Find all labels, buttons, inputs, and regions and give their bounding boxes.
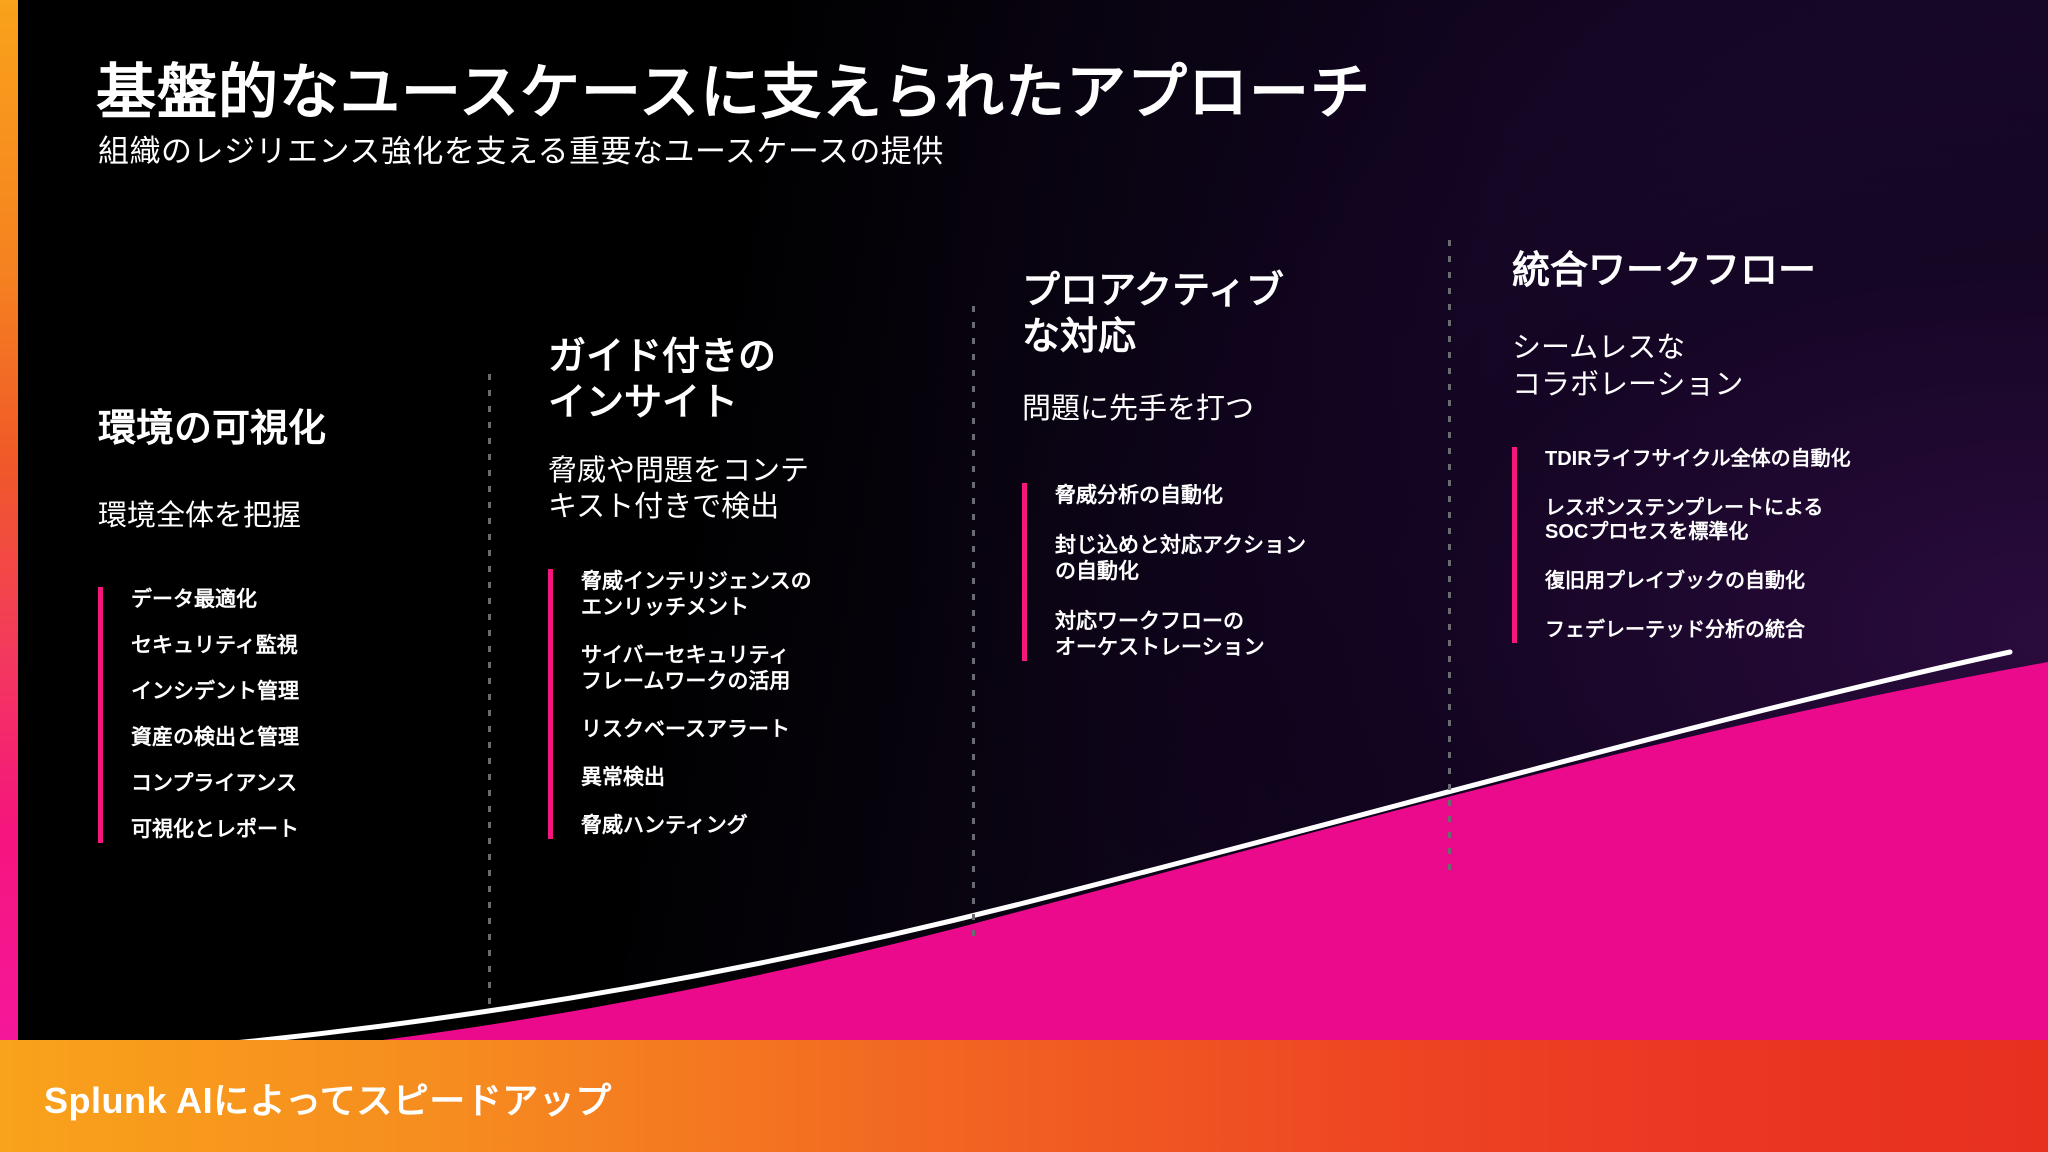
page-title: 基盤的なユースケースに支えられたアプローチ bbox=[96, 44, 1371, 131]
list-item: 脅威ハンティング bbox=[581, 813, 928, 839]
column-divider-3 bbox=[1448, 240, 1451, 870]
list-item: リスクベースアラート bbox=[581, 717, 928, 743]
list-item: 資産の検出と管理 bbox=[131, 725, 458, 751]
list-item: 復旧用プレイブックの自動化 bbox=[1545, 569, 1972, 594]
list-item: 封じ込めと対応アクション の自動化 bbox=[1055, 533, 1402, 585]
list-item: 脅威分析の自動化 bbox=[1055, 483, 1402, 509]
list-item: TDIRライフサイクル全体の自動化 bbox=[1545, 447, 1972, 472]
column-heading: プロアクティブ な対応 bbox=[1022, 268, 1402, 361]
footer-label: Splunk AIによってスピードアップ bbox=[44, 1072, 612, 1124]
column-visibility: 環境の可視化 環境全体を把握 データ最適化 セキュリティ監視 インシデント管理 … bbox=[98, 406, 458, 843]
list-item: 可視化とレポート bbox=[131, 817, 458, 843]
column-subheading: 環境全体を把握 bbox=[98, 498, 458, 534]
list-item: 対応ワークフローの オーケストレーション bbox=[1055, 609, 1402, 661]
column-divider-2 bbox=[972, 306, 975, 936]
column-divider-1 bbox=[488, 374, 491, 1004]
list-item: フェデレーテッド分析の統合 bbox=[1545, 618, 1972, 643]
page-subtitle: 組織のレジリエンス強化を支える重要なユースケースの提供 bbox=[98, 126, 944, 171]
column-subheading: シームレスな コラボレーション bbox=[1512, 330, 1972, 403]
column-guided-insights: ガイド付きの インサイト 脅威や問題をコンテ キスト付きで検出 脅威インテリジェ… bbox=[548, 334, 928, 839]
column-heading: ガイド付きの インサイト bbox=[548, 334, 928, 427]
list-item: インシデント管理 bbox=[131, 679, 458, 705]
column-integrated-workflow: 統合ワークフロー シームレスな コラボレーション TDIRライフサイクル全体の自… bbox=[1512, 248, 1972, 643]
column-heading: 統合ワークフロー bbox=[1512, 248, 1972, 294]
bullet-list: データ最適化 セキュリティ監視 インシデント管理 資産の検出と管理 コンプライア… bbox=[98, 587, 458, 843]
list-item: 異常検出 bbox=[581, 765, 928, 791]
list-item: 脅威インテリジェンスの エンリッチメント bbox=[581, 569, 928, 621]
column-heading: 環境の可視化 bbox=[98, 406, 458, 452]
list-item: セキュリティ監視 bbox=[131, 633, 458, 659]
left-accent-bar bbox=[0, 0, 18, 1040]
column-subheading: 問題に先手を打つ bbox=[1022, 391, 1402, 427]
slide-root: 基盤的なユースケースに支えられたアプローチ 組織のレジリエンス強化を支える重要な… bbox=[0, 0, 2048, 1152]
list-item: データ最適化 bbox=[131, 587, 458, 613]
list-item: コンプライアンス bbox=[131, 771, 458, 797]
list-item: レスポンステンプレートによる SOCプロセスを標準化 bbox=[1545, 496, 1972, 546]
list-item: サイバーセキュリティ フレームワークの活用 bbox=[581, 643, 928, 695]
bullet-list: 脅威分析の自動化 封じ込めと対応アクション の自動化 対応ワークフローの オーケ… bbox=[1022, 483, 1402, 661]
column-proactive-response: プロアクティブ な対応 問題に先手を打つ 脅威分析の自動化 封じ込めと対応アクシ… bbox=[1022, 268, 1402, 661]
bullet-list: 脅威インテリジェンスの エンリッチメント サイバーセキュリティ フレームワークの… bbox=[548, 569, 928, 839]
column-subheading: 脅威や問題をコンテ キスト付きで検出 bbox=[548, 453, 928, 526]
bullet-list: TDIRライフサイクル全体の自動化 レスポンステンプレートによる SOCプロセス… bbox=[1512, 447, 1972, 643]
